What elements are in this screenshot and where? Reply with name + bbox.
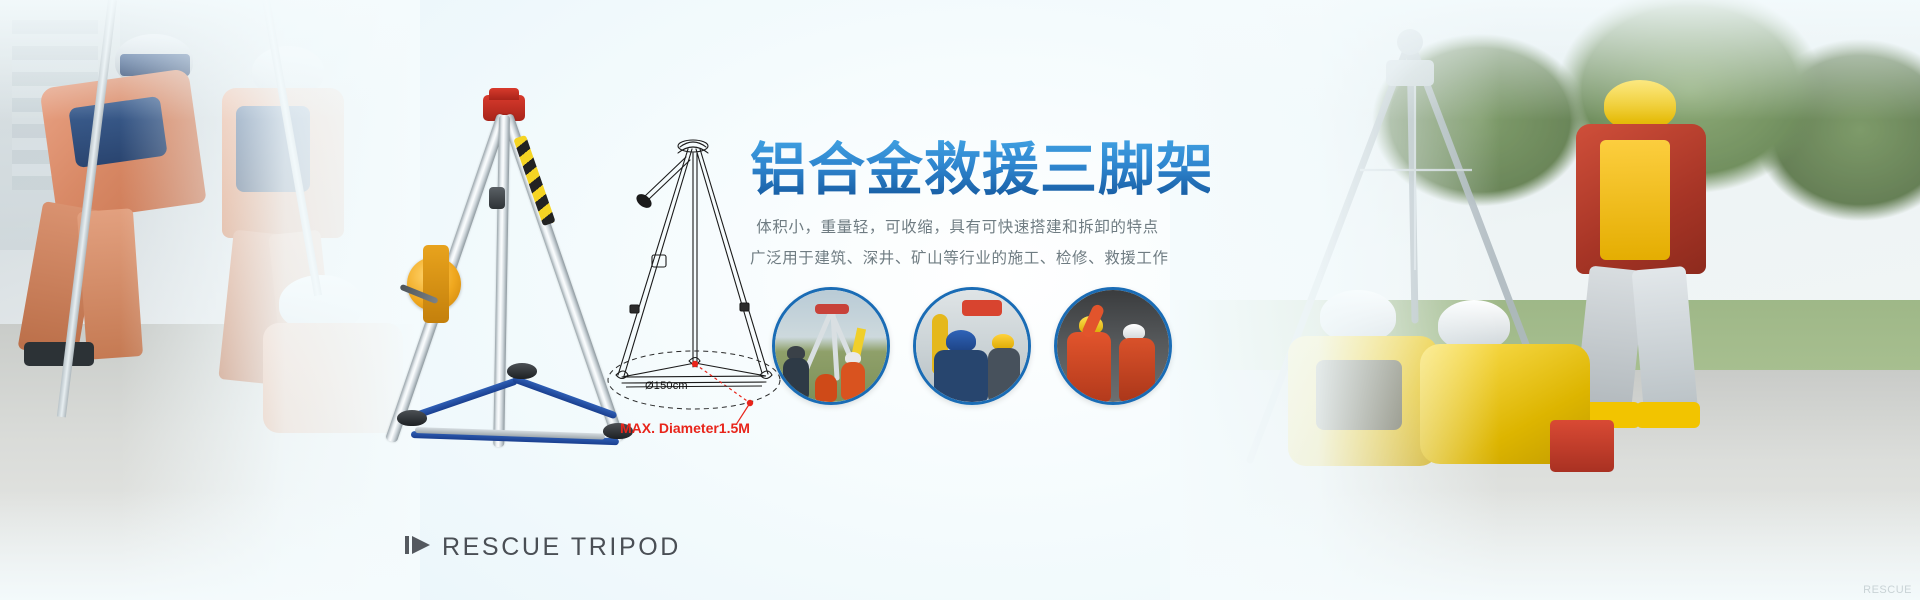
right-photo-bottom-fade	[1170, 490, 1920, 600]
tripod-leg-center	[493, 115, 510, 447]
max-diameter-label: MAX. Diameter1.5M	[620, 420, 750, 436]
gallery-figure	[841, 362, 865, 400]
watermark: RESCUE	[1863, 584, 1912, 596]
left-photo-top-fade	[0, 0, 420, 120]
worker-harness	[1600, 140, 1670, 260]
gallery-figure	[988, 348, 1020, 402]
gallery-figure	[1119, 338, 1155, 402]
headline-block: 铝合金救援三脚架 体积小，重量轻，可收缩，具有可快速搭建和拆卸的特点 广泛用于建…	[750, 140, 1210, 274]
equipment-case	[1550, 420, 1614, 472]
play-triangle-icon	[405, 534, 431, 561]
right-rescue-scene-photo: RESCUE	[1170, 0, 1920, 600]
diameter-label: Ø150cm	[645, 380, 688, 392]
subtitle-line-2: 广泛用于建筑、深井、矿山等行业的施工、检修、救援工作	[750, 243, 1165, 274]
left-rescue-scene-photo	[0, 0, 420, 600]
tripod-foot-back	[507, 363, 537, 379]
gallery-figure	[783, 358, 809, 400]
subtitle-line-1: 体积小，重量轻，可收缩，具有可快速搭建和拆卸的特点	[750, 212, 1165, 243]
product-caption-label: RESCUE TRIPOD	[442, 533, 681, 562]
worker-boot	[24, 342, 94, 366]
tripod-foot-left	[397, 410, 427, 426]
gallery-equipment	[962, 300, 1002, 316]
page-title: 铝合金救援三脚架	[750, 140, 1210, 200]
product-caption: RESCUE TRIPOD	[405, 533, 681, 562]
gallery-row	[772, 287, 1172, 405]
worker-boot	[1636, 402, 1700, 428]
gallery-item-confined-space[interactable]	[1054, 287, 1172, 405]
gallery-figure	[1067, 332, 1111, 402]
worker-leg	[1632, 266, 1699, 420]
gallery-item-field-rescue[interactable]	[772, 287, 890, 405]
right-photo-top-fade	[1170, 0, 1920, 120]
gallery-figure	[815, 374, 837, 402]
pulley	[489, 187, 505, 209]
subtitle-block: 体积小，重量轻，可收缩，具有可快速搭建和拆卸的特点 广泛用于建筑、深井、矿山等行…	[750, 212, 1165, 274]
product-banner: RESCUE	[0, 0, 1920, 600]
winch-mount	[423, 245, 449, 323]
left-photo-bottom-fade	[0, 490, 420, 600]
helmet-icon	[946, 330, 976, 352]
tripod-head-cap	[489, 88, 519, 100]
gallery-item-inspection[interactable]	[913, 287, 1031, 405]
gallery-figure	[934, 350, 988, 402]
product-tripod-image	[385, 95, 635, 465]
